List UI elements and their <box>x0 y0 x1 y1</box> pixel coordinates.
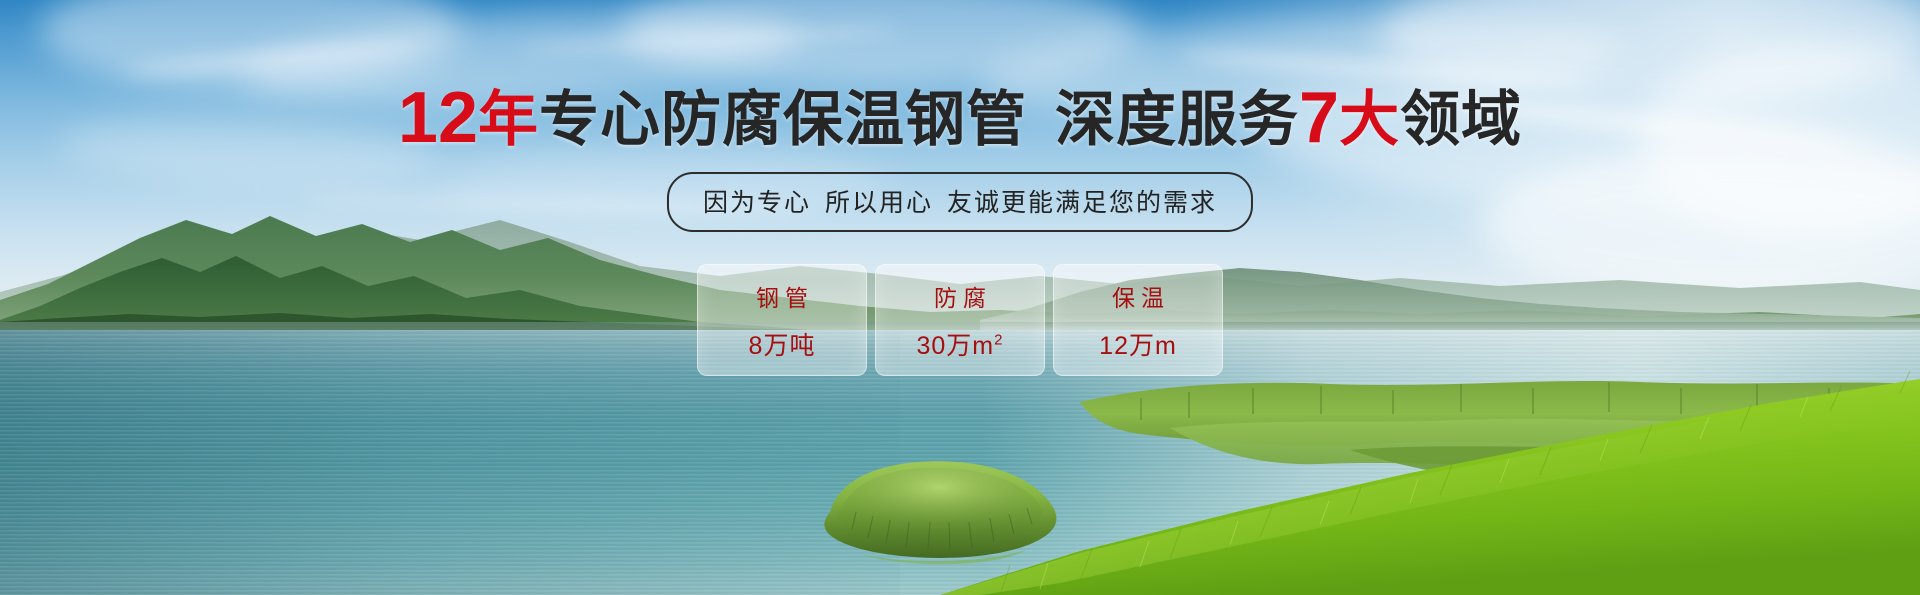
stat-card-label: 钢管 <box>750 279 814 313</box>
stat-card-label: 防腐 <box>928 279 992 313</box>
subtitle-segment-1: 因为专心 <box>703 189 811 217</box>
headline-part-two: 深度服务 <box>1055 86 1299 153</box>
subtitle-segment-2: 所以用心 <box>825 189 933 217</box>
grass-foreground <box>940 345 1920 595</box>
promo-banner: 12年专心防腐保温钢管深度服务7大领域 因为专心所以用心友诚更能满足您的需求 钢… <box>0 0 1920 595</box>
stat-card-group: 钢管 8万吨 防腐 30万m2 保温 12万m <box>697 264 1223 376</box>
subtitle-segment-3: 友诚更能满足您的需求 <box>947 189 1217 217</box>
subtitle-pill: 因为专心所以用心友诚更能满足您的需求 <box>667 172 1253 232</box>
stat-card-value: 8万吨 <box>749 326 816 362</box>
headline-seven-unit: 大 <box>1339 86 1400 153</box>
stat-card-insulation: 保温 12万m <box>1053 264 1223 376</box>
stat-card-anticorrosion: 防腐 30万m2 <box>875 264 1045 376</box>
stat-card-value-text: 30万m <box>917 332 995 360</box>
stat-card-steel-pipe: 钢管 8万吨 <box>697 264 867 376</box>
stat-card-label: 保温 <box>1106 279 1170 313</box>
stat-card-value: 30万m2 <box>917 326 1004 362</box>
headline-years-unit: 年 <box>478 86 539 153</box>
page-title: 12年专心防腐保温钢管深度服务7大领域 <box>0 82 1920 154</box>
stat-card-value-text: 8万吨 <box>749 332 816 360</box>
headline-part-three: 领域 <box>1400 86 1522 153</box>
headline-seven-number: 7 <box>1299 78 1339 158</box>
stat-card-value: 12万m <box>1099 326 1177 362</box>
stat-card-value-superscript: 2 <box>994 331 1003 348</box>
headline-years-number: 12 <box>398 78 478 158</box>
stat-card-value-text: 12万m <box>1099 332 1177 360</box>
headline-part-one: 专心防腐保温钢管 <box>539 86 1027 153</box>
